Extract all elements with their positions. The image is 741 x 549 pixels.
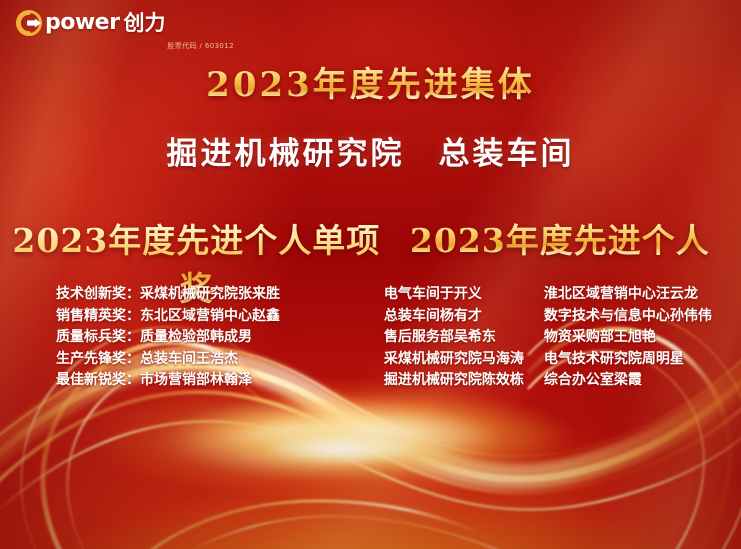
- c-power-mark-icon: [16, 10, 42, 36]
- right-section-heading: 2023年度先进个人: [410, 214, 710, 262]
- winner-name-left: 总装车间杨有才: [384, 306, 544, 328]
- table-row: 电气车间于开义 淮北区域营销中心汪云龙: [384, 284, 741, 306]
- table-row: 掘进机械研究院陈效栋 综合办公室梁霞: [384, 370, 741, 392]
- stock-code-label: 股票代码 / 603012: [16, 41, 246, 51]
- single-award-list: 技术创新奖：采煤机械研究院张来胜 销售精英奖：东北区域营销中心赵鑫 质量标兵奖：…: [0, 284, 378, 392]
- table-row: 采煤机械研究院马海涛 电气技术研究院周明星: [384, 349, 741, 371]
- table-row: 总装车间杨有才 数字技术与信息中心孙伟伟: [384, 306, 741, 328]
- collective-winners: 掘进机械研究院 总装车间: [0, 128, 741, 173]
- award-lists: 技术创新奖：采煤机械研究院张来胜 销售精英奖：东北区域营销中心赵鑫 质量标兵奖：…: [0, 284, 741, 392]
- list-item: 质量标兵奖：质量检验部韩成男: [56, 327, 378, 349]
- center-glow-core: [211, 423, 471, 475]
- list-item: 生产先锋奖：总装车间王浩杰: [56, 349, 378, 371]
- brand-name-cn: 创力: [123, 13, 165, 34]
- logo-row: power 创力: [16, 10, 246, 36]
- main-title: 2023年度先进集体: [0, 57, 741, 106]
- list-item: 销售精英奖：东北区域营销中心赵鑫: [56, 306, 378, 328]
- winner-name-left: 掘进机械研究院陈效栋: [384, 370, 544, 392]
- list-item: 技术创新奖：采煤机械研究院张来胜: [56, 284, 378, 306]
- winner-name-left: 售后服务部吴希东: [384, 327, 544, 349]
- brand-name-en: power: [45, 12, 119, 34]
- table-row: 售后服务部吴希东 物资采购部王旭艳: [384, 327, 741, 349]
- winner-name-right: 物资采购部王旭艳: [544, 327, 741, 349]
- brand-logo[interactable]: power 创力 股票代码 / 603012: [16, 10, 246, 51]
- winner-name-left: 采煤机械研究院马海涛: [384, 349, 544, 371]
- winner-name-right: 淮北区域营销中心汪云龙: [544, 284, 741, 306]
- winner-name-right: 电气技术研究院周明星: [544, 349, 741, 371]
- poster-canvas: power 创力 股票代码 / 603012 2023年度先进集体 掘进机械研究…: [0, 0, 741, 549]
- list-item: 最佳新锐奖：市场营销部林翰泽: [56, 370, 378, 392]
- individual-award-list: 电气车间于开义 淮北区域营销中心汪云龙 总装车间杨有才 数字技术与信息中心孙伟伟…: [378, 284, 741, 392]
- winner-name-right: 数字技术与信息中心孙伟伟: [544, 306, 741, 328]
- winner-name-left: 电气车间于开义: [384, 284, 544, 306]
- winner-name-right: 综合办公室梁霞: [544, 370, 741, 392]
